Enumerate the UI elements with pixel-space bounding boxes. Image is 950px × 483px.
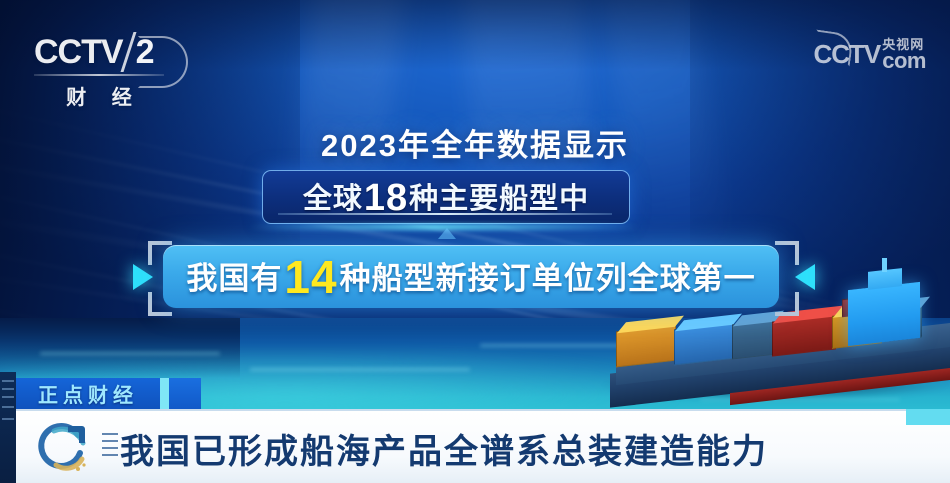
- stat-box-highlight: 我国有14种船型新接订单位列全球第一: [163, 245, 779, 308]
- cargo-container: [674, 323, 734, 366]
- logo-arc-icon: [138, 36, 188, 88]
- stat-number: 14: [282, 251, 339, 303]
- water-streak: [40, 352, 220, 355]
- program-tab-label: 正点财经: [38, 379, 138, 408]
- ship-bridge: [848, 282, 920, 346]
- cargo-container: [732, 319, 776, 359]
- arrow-left-icon: [795, 264, 815, 290]
- down-pointer-icon: [438, 228, 456, 239]
- tv-broadcast-frame: CCTV 2 财 经 CCTV 央视网 com 2023年全年数据显示 全球18…: [0, 0, 950, 483]
- stat-suffix: 种主要船型中: [409, 183, 589, 215]
- cargo-container: [772, 314, 836, 356]
- lower-third-title: 我国已形成船海产品全谱系总装建造能力: [120, 420, 768, 477]
- watermark-com-text: com: [882, 51, 926, 71]
- stat-prefix: 我国有: [186, 261, 282, 296]
- cctv-com-watermark: CCTV 央视网 com: [813, 38, 926, 71]
- water-streak: [250, 368, 470, 371]
- stat-box-primary: 全球18种主要船型中: [262, 170, 630, 224]
- program-tab-accent: [160, 378, 169, 409]
- program-tab: 正点财经: [16, 378, 160, 409]
- banner-tick-marks: [102, 433, 118, 461]
- left-edge-strip: [0, 372, 16, 483]
- arrow-right-icon: [133, 264, 153, 290]
- cctv-2-logo: CCTV 2 财 经: [34, 32, 184, 110]
- swoosh-arrow-icon: [34, 419, 92, 477]
- cargo-container: [616, 325, 676, 368]
- banner-corner-accent: [906, 409, 950, 425]
- ship-mast: [882, 258, 887, 272]
- stat-box-underline: [278, 213, 612, 215]
- lower-third-banner: 我国已形成船海产品全谱系总装建造能力: [16, 409, 950, 483]
- sea-shadow: [0, 318, 240, 378]
- headline-kicker: 2023年全年数据显示: [0, 120, 950, 165]
- stat-prefix: 全球: [303, 183, 363, 215]
- stat-box-highlight-text: 我国有14种船型新接订单位列全球第一: [186, 250, 755, 304]
- stat-suffix: 种船型新接订单位列全球第一: [340, 261, 756, 296]
- cctv-wordmark: CCTV: [34, 33, 123, 72]
- program-tab-extension: [169, 378, 201, 409]
